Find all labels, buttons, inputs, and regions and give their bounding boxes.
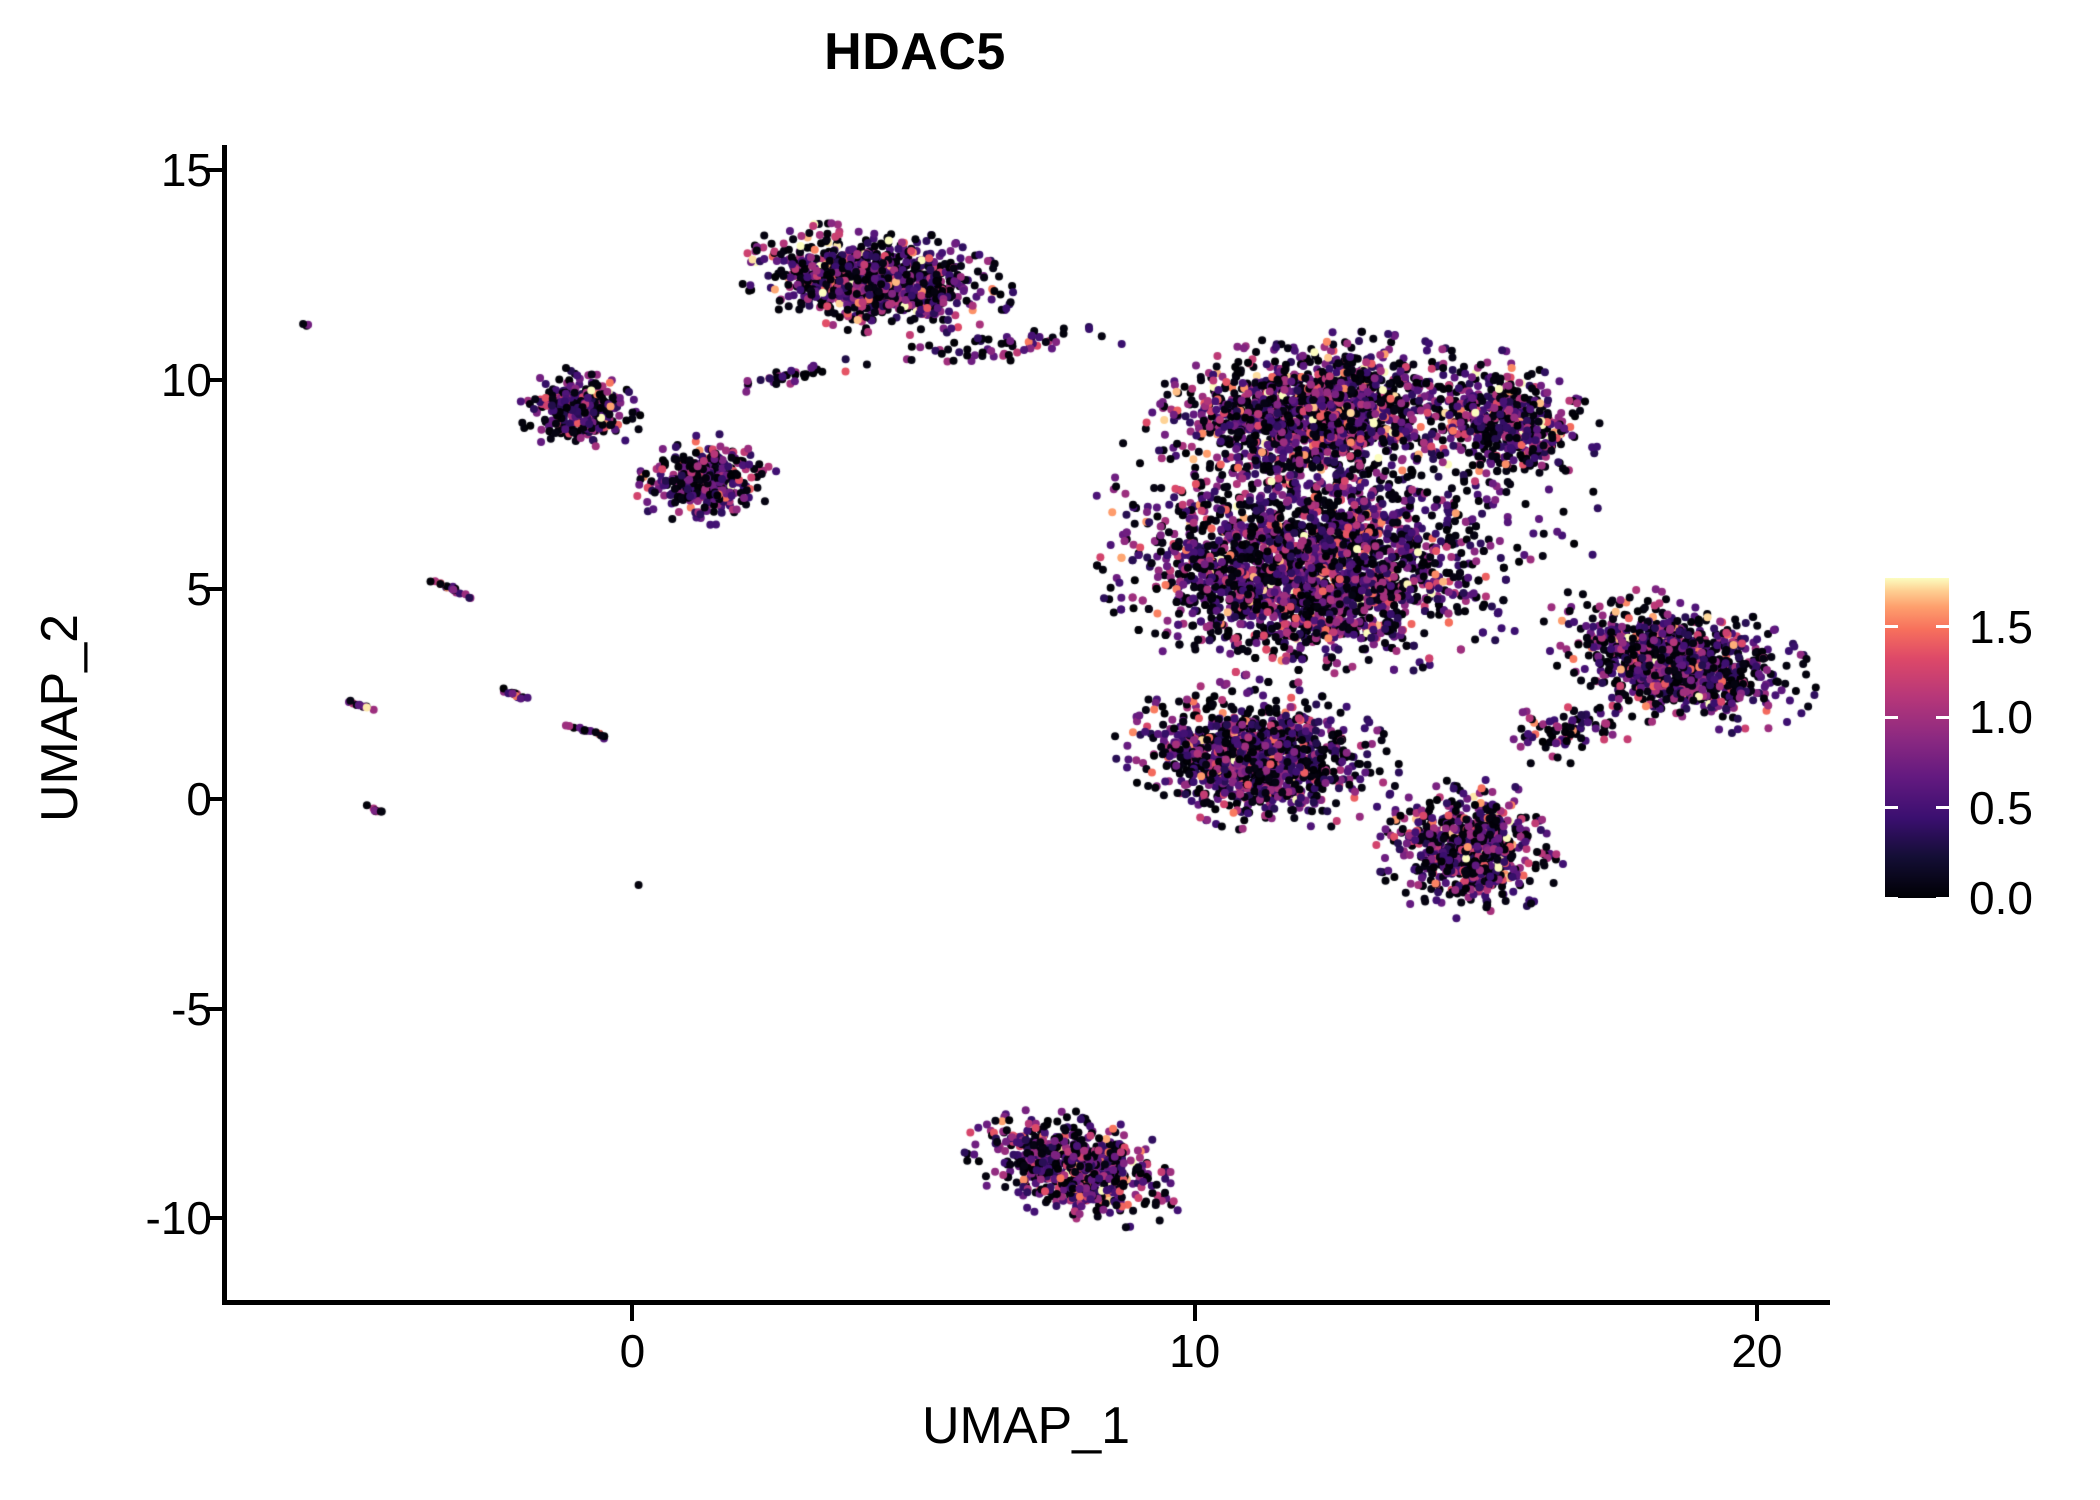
- colorbar-tick-mark: [1936, 625, 1949, 628]
- x-tick-label: 10: [1169, 1328, 1220, 1374]
- colorbar-tick-mark: [1885, 716, 1898, 719]
- x-tick-label: 20: [1731, 1328, 1782, 1374]
- x-tick-mark: [1755, 1305, 1759, 1321]
- x-tick-mark: [630, 1305, 634, 1321]
- colorbar-tick-label: 1.5: [1969, 604, 2033, 650]
- x-axis-title: UMAP_1: [222, 1400, 1830, 1452]
- colorbar-tick-mark: [1936, 716, 1949, 719]
- y-tick-label: -10: [146, 1195, 212, 1241]
- x-axis-line: [222, 1300, 1830, 1305]
- scatter-plot-canvas: [222, 145, 1830, 1302]
- colorbar-tick-mark: [1936, 806, 1949, 809]
- y-tick-label: 5: [186, 566, 212, 612]
- x-tick-mark: [1193, 1305, 1197, 1321]
- y-tick-label: -5: [171, 986, 212, 1032]
- umap-feature-plot: HDAC5 151050-5-10 01020 UMAP_1 UMAP_2 1.…: [0, 0, 2100, 1500]
- colorbar-tick-mark: [1885, 897, 1898, 900]
- y-axis-title: UMAP_2: [34, 338, 86, 1098]
- colorbar-tick-label: 1.0: [1969, 694, 2033, 740]
- y-tick-label: 10: [161, 357, 212, 403]
- colorbar-tick-label: 0.5: [1969, 785, 2033, 831]
- y-tick-label: 15: [161, 147, 212, 193]
- page-title: HDAC5: [0, 26, 1830, 78]
- y-tick-label: 0: [186, 776, 212, 822]
- colorbar-legend: 1.51.00.50.0: [1885, 578, 2085, 898]
- colorbar-tick-mark: [1885, 625, 1898, 628]
- colorbar-tick-label: 0.0: [1969, 875, 2033, 921]
- x-tick-label: 0: [620, 1328, 646, 1374]
- y-axis-line: [222, 145, 227, 1305]
- colorbar-tick-mark: [1885, 806, 1898, 809]
- colorbar-tick-mark: [1936, 897, 1949, 900]
